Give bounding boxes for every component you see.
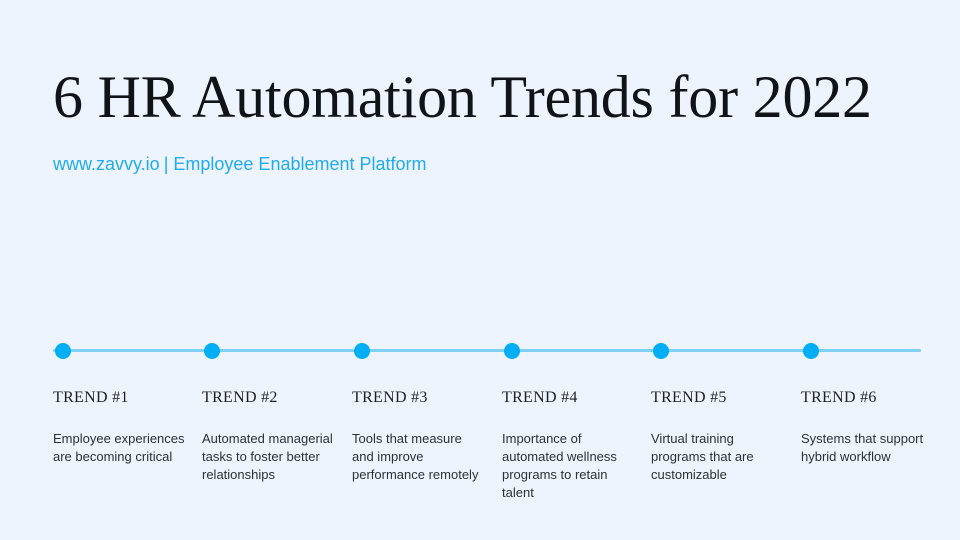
subtitle-line: www.zavvy.io|Employee Enablement Platfor…: [53, 132, 913, 176]
trend-heading: TREND #1: [53, 388, 188, 408]
trend-heading: TREND #4: [502, 388, 637, 408]
trend-heading: TREND #5: [651, 388, 786, 408]
trend-description: Employee experiences are becoming critic…: [53, 408, 188, 466]
trend-item-4: TREND #4 Importance of automated wellnes…: [502, 388, 637, 502]
subtitle-tagline: Employee Enablement Platform: [173, 154, 426, 174]
trend-description: Systems that support hybrid workflow: [801, 408, 936, 466]
timeline-dot-1[interactable]: [55, 343, 71, 359]
timeline: [0, 330, 960, 372]
timeline-dot-3[interactable]: [354, 343, 370, 359]
timeline-dot-5[interactable]: [653, 343, 669, 359]
subtitle-separator: |: [160, 154, 174, 174]
timeline-dot-6[interactable]: [803, 343, 819, 359]
trend-heading: TREND #6: [801, 388, 936, 408]
page-title: 6 HR Automation Trends for 2022: [53, 62, 913, 132]
trend-description: Automated managerial tasks to foster bet…: [202, 408, 337, 484]
trend-item-1: TREND #1 Employee experiences are becomi…: [53, 388, 188, 466]
trend-description: Virtual training programs that are custo…: [651, 408, 786, 484]
timeline-track: [53, 349, 921, 352]
slide-canvas: 6 HR Automation Trends for 2022 www.zavv…: [0, 0, 960, 540]
trend-heading: TREND #3: [352, 388, 487, 408]
trend-item-2: TREND #2 Automated managerial tasks to f…: [202, 388, 337, 484]
trend-list: TREND #1 Employee experiences are becomi…: [0, 388, 960, 518]
timeline-dot-2[interactable]: [204, 343, 220, 359]
trend-heading: TREND #2: [202, 388, 337, 408]
trend-description: Importance of automated wellness program…: [502, 408, 637, 502]
timeline-dot-4[interactable]: [504, 343, 520, 359]
trend-item-5: TREND #5 Virtual training programs that …: [651, 388, 786, 484]
trend-item-3: TREND #3 Tools that measure and improve …: [352, 388, 487, 484]
website-link[interactable]: www.zavvy.io: [53, 154, 160, 174]
trend-item-6: TREND #6 Systems that support hybrid wor…: [801, 388, 936, 466]
trend-description: Tools that measure and improve performan…: [352, 408, 487, 484]
slide-header: 6 HR Automation Trends for 2022 www.zavv…: [53, 62, 913, 176]
